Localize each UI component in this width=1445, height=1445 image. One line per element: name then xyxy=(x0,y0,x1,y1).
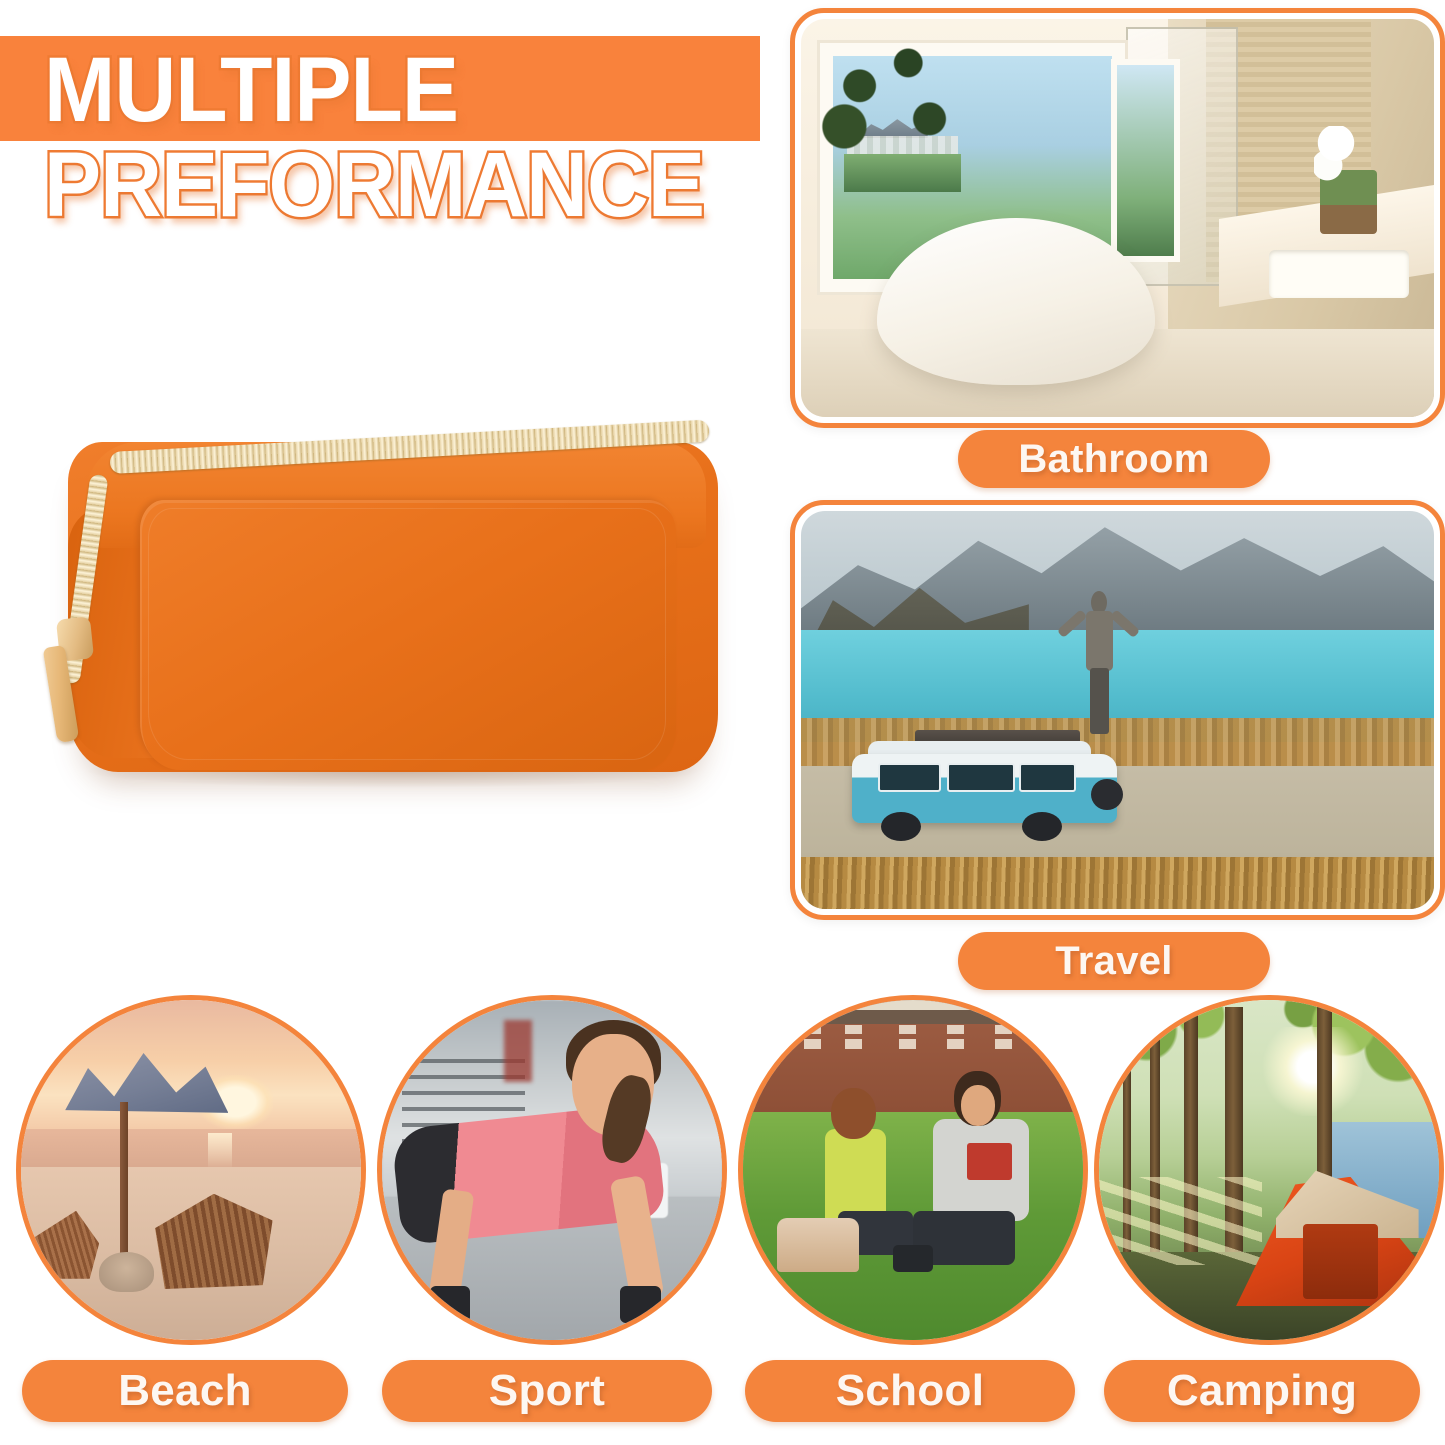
sun-rays xyxy=(1099,1177,1262,1265)
campus-tote-bag xyxy=(777,1218,859,1272)
travel-foreground-grass xyxy=(801,857,1434,909)
bathroom-illustration xyxy=(801,19,1434,417)
sport-illustration xyxy=(382,1000,722,1340)
scene-label-travel: Travel xyxy=(958,932,1270,990)
building-window xyxy=(804,1025,821,1034)
student-shoe xyxy=(893,1245,934,1272)
marketing-image-canvas: MULTIPLE PREFORMANCE xyxy=(0,0,1445,1445)
building-window xyxy=(995,1039,1012,1048)
tent-door xyxy=(1303,1224,1378,1299)
school-illustration xyxy=(743,1000,1083,1340)
building-window xyxy=(899,1025,916,1034)
scene-photo-bathroom xyxy=(801,19,1434,417)
scene-card-travel xyxy=(790,500,1445,920)
building-roof xyxy=(743,1010,1083,1024)
headline-line-1: MULTIPLE xyxy=(44,48,751,133)
camping-illustration xyxy=(1099,1000,1439,1340)
headline-line-2: PREFORMANCE xyxy=(44,143,751,228)
van-spare-tire xyxy=(1091,779,1123,810)
beach-sky xyxy=(21,1000,361,1136)
page-title: MULTIPLE PREFORMANCE xyxy=(44,48,751,227)
building-window xyxy=(947,1039,964,1048)
student-male-face xyxy=(961,1085,995,1126)
person-left-arm xyxy=(1057,609,1087,638)
scene-label-beach: Beach xyxy=(22,1360,348,1422)
building-window xyxy=(763,1039,780,1048)
case-front-panel xyxy=(140,500,676,770)
camping-sun-flare xyxy=(1262,1027,1364,1115)
scene-photo-travel xyxy=(801,511,1434,909)
beach-sea xyxy=(21,1129,361,1170)
athlete-glove-right xyxy=(620,1286,661,1323)
scene-circle-camping xyxy=(1094,995,1444,1345)
building-window xyxy=(845,1039,862,1048)
person-right-arm xyxy=(1109,609,1139,638)
building-window xyxy=(845,1025,862,1034)
scene-label-school: School xyxy=(745,1360,1075,1422)
beach-umbrella-base xyxy=(99,1252,153,1293)
building-window xyxy=(763,1025,780,1034)
travel-person-arms-raised xyxy=(1054,591,1143,734)
van-window-2 xyxy=(947,763,1015,792)
beach-sun-reflection xyxy=(208,1133,232,1170)
scene-label-camping: Camping xyxy=(1104,1360,1420,1422)
gym-red-accent xyxy=(504,1020,531,1081)
bathroom-sink xyxy=(1269,250,1408,298)
scene-circle-sport xyxy=(377,995,727,1345)
hoodie-logo xyxy=(967,1143,1011,1180)
window-tree-foliage xyxy=(814,35,966,162)
athlete-glove-left xyxy=(430,1286,471,1323)
person-torso xyxy=(1086,611,1113,671)
van-wheel-front xyxy=(881,812,921,841)
student-female-head xyxy=(831,1088,875,1139)
scene-circle-beach xyxy=(16,995,366,1345)
beach-umbrella-pole xyxy=(120,1102,129,1272)
travel-camper-van xyxy=(852,730,1118,841)
building-window xyxy=(804,1039,821,1048)
van-wheel-rear xyxy=(1022,812,1062,841)
building-window xyxy=(947,1025,964,1034)
person-legs xyxy=(1090,668,1109,734)
van-window-1 xyxy=(878,763,940,792)
van-window-3 xyxy=(1019,763,1076,792)
bathroom-side-window xyxy=(1111,59,1180,262)
travel-illustration xyxy=(801,511,1434,909)
campus-building xyxy=(743,1017,1083,1119)
beach-illustration xyxy=(21,1000,361,1340)
product-image-pencil-case xyxy=(28,418,758,828)
scene-card-bathroom xyxy=(790,8,1445,428)
building-window xyxy=(995,1025,1012,1034)
scene-label-bathroom: Bathroom xyxy=(958,430,1270,488)
scene-circle-school xyxy=(738,995,1088,1345)
bathroom-orchid xyxy=(1314,126,1358,182)
scene-label-sport: Sport xyxy=(382,1360,712,1422)
building-window xyxy=(899,1039,916,1048)
